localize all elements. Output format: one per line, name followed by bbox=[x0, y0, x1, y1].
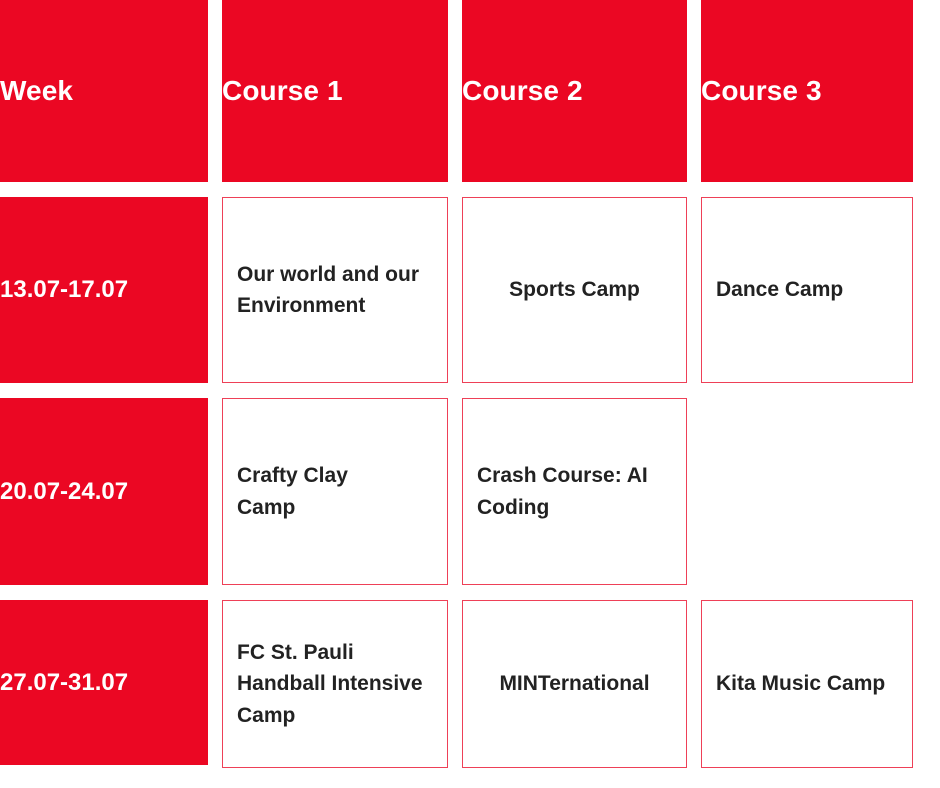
header-label-course-2: Course 2 bbox=[462, 75, 687, 107]
header-label-week: Week bbox=[0, 75, 208, 107]
week-label-3: 27.07-31.07 bbox=[0, 669, 208, 697]
header-cell-course-2: Course 2 bbox=[462, 0, 687, 182]
week-cell-3: 27.07-31.07 bbox=[0, 600, 208, 765]
course-label-r3-c1: FC St. Pauli Handball Intensive Camp bbox=[237, 637, 433, 730]
week-label-1: 13.07-17.07 bbox=[0, 276, 208, 304]
course-cell-r1-c1[interactable]: Our world and our Environment bbox=[222, 197, 448, 383]
course-label-r1-c2: Sports Camp bbox=[477, 274, 672, 305]
week-cell-2: 20.07-24.07 bbox=[0, 398, 208, 585]
course-cell-r3-c1[interactable]: FC St. Pauli Handball Intensive Camp bbox=[222, 600, 448, 768]
course-label-r3-c3: Kita Music Camp bbox=[716, 668, 898, 699]
header-label-course-3: Course 3 bbox=[701, 75, 913, 107]
course-schedule-table: Week Course 1 Course 2 Course 3 13.07-17… bbox=[0, 0, 940, 788]
course-cell-r2-c2[interactable]: Crash Course: AI Coding bbox=[462, 398, 687, 585]
header-label-course-1: Course 1 bbox=[222, 75, 448, 107]
course-label-r3-c2: MINTernational bbox=[477, 668, 672, 699]
header-cell-course-3: Course 3 bbox=[701, 0, 913, 182]
week-label-2: 20.07-24.07 bbox=[0, 478, 208, 506]
course-label-r2-c2: Crash Course: AI Coding bbox=[477, 460, 672, 522]
course-cell-r2-c1[interactable]: Crafty Clay Camp bbox=[222, 398, 448, 585]
header-cell-week: Week bbox=[0, 0, 208, 182]
course-label-r2-c1: Crafty Clay Camp bbox=[237, 460, 433, 522]
course-label-r1-c3: Dance Camp bbox=[716, 274, 898, 305]
header-cell-course-1: Course 1 bbox=[222, 0, 448, 182]
course-cell-r3-c3[interactable]: Kita Music Camp bbox=[701, 600, 913, 768]
course-cell-r1-c3[interactable]: Dance Camp bbox=[701, 197, 913, 383]
week-cell-1: 13.07-17.07 bbox=[0, 197, 208, 383]
course-cell-r3-c2[interactable]: MINTernational bbox=[462, 600, 687, 768]
course-cell-r1-c2[interactable]: Sports Camp bbox=[462, 197, 687, 383]
course-cell-r2-c3-empty bbox=[701, 398, 913, 585]
course-label-r1-c1: Our world and our Environment bbox=[237, 259, 433, 321]
